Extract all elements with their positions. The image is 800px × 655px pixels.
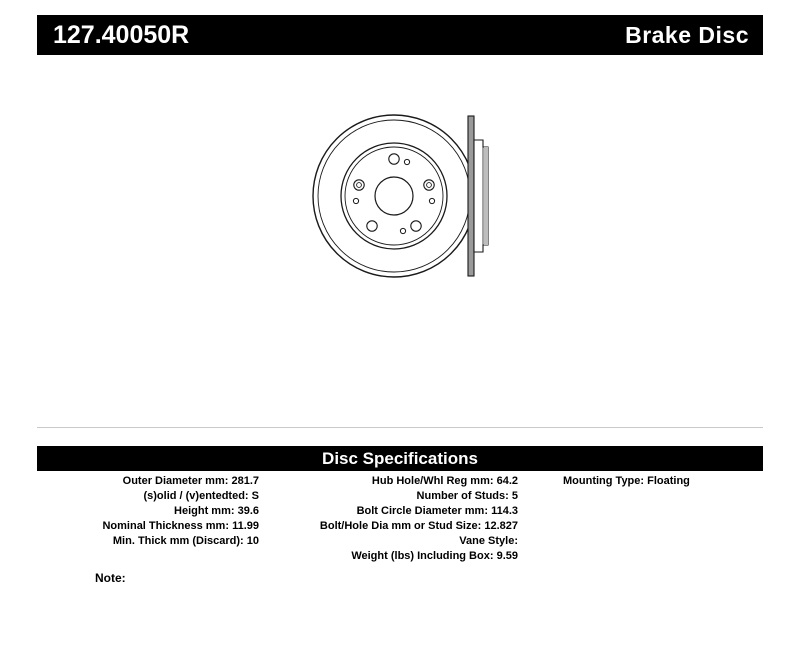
spec-label: Nominal Thickness mm:	[102, 520, 229, 532]
drawing-area	[0, 60, 800, 420]
spec-value: S	[252, 490, 259, 502]
spec-value: 10	[247, 535, 259, 547]
rotor-ring-section	[468, 116, 474, 276]
spec-row: Bolt/Hole Dia mm or Stud Size: 12.827	[262, 519, 518, 534]
retaining-screw-hole	[400, 228, 405, 233]
hub-bore-circle	[375, 177, 413, 215]
spec-title-bar: Disc Specifications	[37, 446, 763, 471]
spec-column-middle: Hub Hole/Whl Reg mm: 64.2 Number of Stud…	[262, 474, 524, 564]
spec-value: 11.99	[232, 520, 259, 532]
spec-value: 39.6	[238, 505, 259, 517]
spec-row: Weight (lbs) Including Box: 9.59	[262, 549, 518, 564]
spec-title-label: Disc Specifications	[322, 450, 478, 467]
spec-label: Bolt Circle Diameter mm:	[357, 505, 488, 517]
spec-value: Floating	[647, 475, 690, 487]
spec-value: 5	[512, 490, 518, 502]
stud-hole	[389, 154, 399, 164]
retaining-screw-hole	[404, 159, 409, 164]
stud-hole	[424, 180, 434, 190]
stud-hole-center-mark	[357, 183, 362, 188]
stud-hole	[354, 180, 364, 190]
part-number-label: 127.40050R	[53, 23, 189, 48]
brake-disc-section-view	[468, 116, 488, 276]
stud-hole	[411, 221, 421, 231]
spec-column-left: Outer Diameter mm: 281.7 (s)olid / (v)en…	[37, 474, 262, 549]
spec-row: Bolt Circle Diameter mm: 114.3	[262, 504, 518, 519]
spec-row: Hub Hole/Whl Reg mm: 64.2	[262, 474, 518, 489]
spec-label: Height mm:	[174, 505, 235, 517]
stud-hole-center-mark	[427, 183, 432, 188]
spec-row: (s)olid / (v)entedted: S	[37, 489, 259, 504]
spec-label: Outer Diameter mm:	[123, 475, 229, 487]
spec-label: Hub Hole/Whl Reg mm:	[372, 475, 494, 487]
spec-label: Number of Studs:	[417, 490, 509, 502]
spec-column-right: Mounting Type: Floating	[524, 474, 763, 489]
header-bar: 127.40050R Brake Disc	[37, 15, 763, 55]
spec-table: Outer Diameter mm: 281.7 (s)olid / (v)en…	[37, 474, 763, 564]
stud-hole	[367, 221, 377, 231]
retaining-screw-hole	[353, 198, 358, 203]
rotor-outer-edge-circle	[313, 115, 475, 277]
spec-row: Number of Studs: 5	[262, 489, 518, 504]
spec-value: 64.2	[497, 475, 518, 487]
note-label: Note:	[95, 571, 126, 585]
spec-label: Bolt/Hole Dia mm or Stud Size:	[320, 520, 481, 532]
rotor-hat-inner-circle	[345, 147, 443, 245]
note-block: Note:	[95, 571, 130, 586]
spec-value: 12.827	[484, 520, 518, 532]
section-divider	[37, 427, 763, 428]
spec-label: (s)olid / (v)entedted:	[143, 490, 248, 502]
spec-value: 114.3	[491, 505, 518, 517]
brake-disc-technical-drawing	[290, 100, 530, 300]
retaining-screw-hole	[429, 198, 434, 203]
spec-row: Outer Diameter mm: 281.7	[37, 474, 259, 489]
spec-label: Mounting Type:	[563, 475, 644, 487]
brake-disc-front-view	[313, 115, 475, 277]
spec-row: Height mm: 39.6	[37, 504, 259, 519]
spec-row: Vane Style:	[262, 534, 518, 549]
spec-value: 281.7	[231, 475, 259, 487]
rotor-mounting-face	[484, 147, 488, 245]
spec-value: 9.59	[497, 550, 518, 562]
spec-label: Min. Thick mm (Discard):	[113, 535, 244, 547]
spec-row: Min. Thick mm (Discard): 10	[37, 534, 259, 549]
spec-row: Mounting Type: Floating	[563, 474, 763, 489]
spec-label: Vane Style:	[459, 535, 518, 547]
spec-label: Weight (lbs) Including Box:	[351, 550, 493, 562]
product-type-label: Brake Disc	[625, 24, 749, 47]
spec-row: Nominal Thickness mm: 11.99	[37, 519, 259, 534]
rotor-hat-outer-circle	[341, 143, 447, 249]
